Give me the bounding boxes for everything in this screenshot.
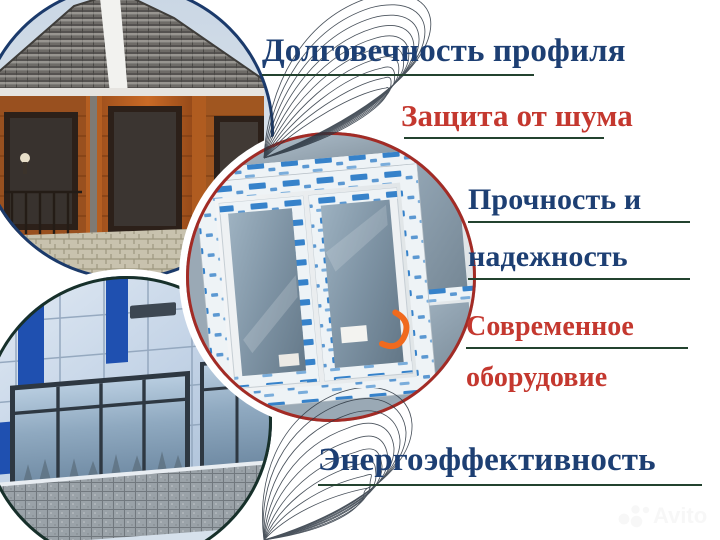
headline-noise-protection-rule (404, 137, 604, 139)
headline-energy-efficiency-rule (318, 484, 702, 486)
headline-strength-rule (468, 221, 690, 223)
veka-window-stack-illustration (186, 132, 476, 422)
headline-strength: Прочность и (468, 185, 641, 215)
headline-reliability: надежность (468, 242, 628, 272)
promo-poster: Долговечность профиля Защита от шума Про… (0, 0, 720, 540)
avito-watermark: Avito (617, 500, 713, 528)
headline-equipment: оборудовие (466, 364, 607, 392)
headline-durability: Долговечность профиля (262, 35, 626, 68)
headline-noise-protection: Защита от шума (401, 100, 633, 131)
headline-durability-rule (262, 74, 534, 76)
headline-modern: Современное (466, 313, 634, 341)
photo-veka-windows (186, 132, 476, 422)
avito-dots-icon (619, 505, 650, 527)
avito-wordmark: Avito (653, 503, 707, 528)
headline-reliability-rule (468, 278, 690, 280)
headline-energy-efficiency: Энергоэффективность (318, 444, 656, 477)
headline-modern-rule (466, 347, 688, 349)
